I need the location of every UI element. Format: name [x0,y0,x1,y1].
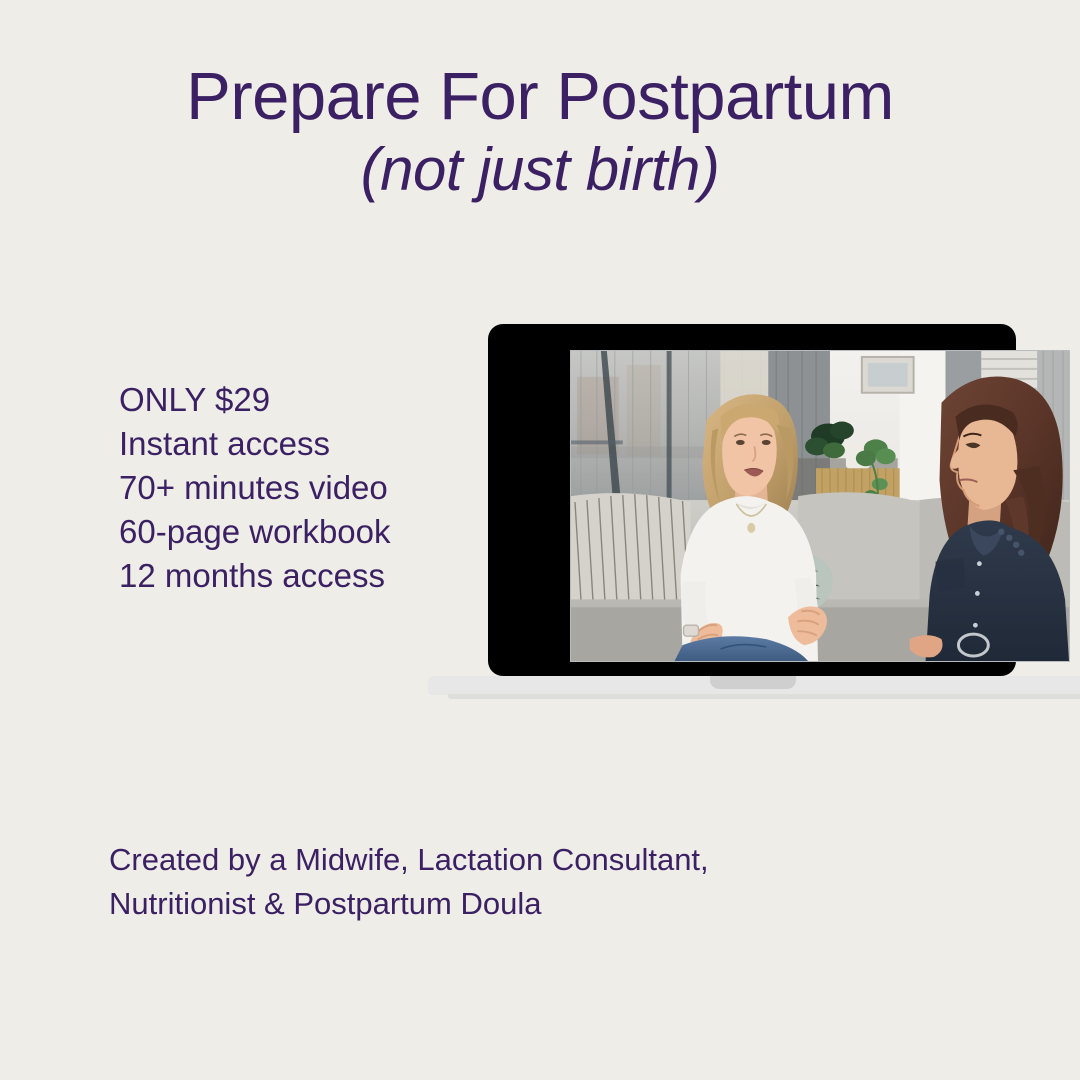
laptop-base-shadow [448,694,1080,699]
caption-line-1: Created by a Midwife, Lactation Consulta… [109,838,869,882]
caption: Created by a Midwife, Lactation Consulta… [109,838,869,926]
list-item: Instant access [119,422,391,466]
laptop-mockup [420,318,1080,703]
video-still-illustration [571,351,1069,661]
laptop-bezel [488,324,1016,676]
title-line-1: Prepare For Postpartum [0,60,1080,134]
laptop-trackpad-notch [710,676,796,689]
title-line-2: (not just birth) [0,134,1080,206]
feature-list: ONLY $29 Instant access 70+ minutes vide… [119,378,391,598]
list-item: 60-page workbook [119,510,391,554]
laptop-screen-video [570,350,1070,662]
caption-line-2: Nutritionist & Postpartum Doula [109,882,869,926]
list-item: ONLY $29 [119,378,391,422]
list-item: 12 months access [119,554,391,598]
page-title: Prepare For Postpartum (not just birth) [0,60,1080,206]
list-item: 70+ minutes video [119,466,391,510]
